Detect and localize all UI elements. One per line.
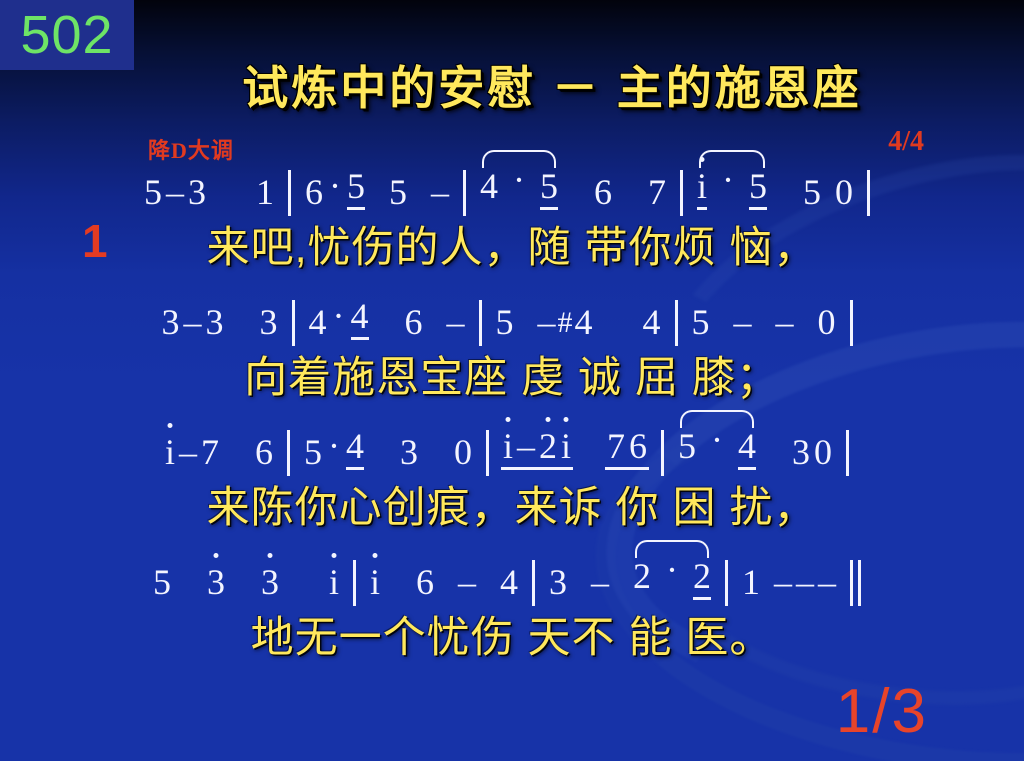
note: 5	[151, 564, 173, 600]
note: 3	[398, 434, 420, 470]
note: 3	[186, 174, 208, 210]
page-title: 试炼中的安慰 － 主的施恩座	[0, 52, 1024, 118]
note: 2	[537, 428, 559, 464]
dotted-rhythm-dot: ·	[325, 168, 345, 204]
barline	[680, 170, 683, 216]
note: 5	[538, 168, 560, 210]
sharp-accidental: #	[558, 308, 573, 338]
note: 5	[142, 174, 164, 210]
barline	[532, 560, 535, 606]
slur-arc: 2 · 2	[631, 558, 713, 600]
note: 1	[254, 174, 276, 210]
note: 4	[573, 304, 595, 340]
note: 3	[160, 304, 182, 340]
barline	[292, 300, 295, 346]
note: 0	[833, 174, 855, 210]
note: 6	[592, 174, 614, 210]
barline	[867, 170, 870, 216]
note: 5	[387, 174, 409, 210]
note: 3	[204, 304, 226, 340]
note: 4	[478, 168, 500, 204]
note: 5	[345, 168, 367, 210]
barline	[725, 560, 728, 606]
note-dash: –	[816, 564, 838, 600]
note-dash: –	[456, 564, 478, 600]
note: 2	[631, 558, 653, 594]
barline	[288, 170, 291, 216]
lyrics-line: 向着施恩宝座 虔 诚 屈 膝；	[0, 344, 1024, 412]
note-dash: –	[732, 304, 754, 340]
note: i	[163, 434, 177, 470]
note: 5	[747, 168, 769, 210]
note: 6	[627, 428, 649, 464]
barline	[463, 170, 466, 216]
note-dash: –	[772, 564, 794, 600]
note: 7	[199, 434, 221, 470]
barline	[675, 300, 678, 346]
notation-line: 5 – 3 1 6 · 5 5 – 4 ·	[0, 152, 1024, 214]
barline	[479, 300, 482, 346]
note-dash: –	[429, 174, 451, 210]
note: 7	[646, 174, 668, 210]
note: i	[368, 564, 382, 600]
page-indicator: 1/3	[836, 681, 928, 743]
note: 4	[307, 304, 329, 340]
barline	[661, 430, 664, 476]
barline	[486, 430, 489, 476]
note-dash: –	[794, 564, 816, 600]
note: 3	[790, 434, 812, 470]
score-stanza: 5 3 3 i i 6 – 4 3	[0, 542, 1024, 672]
note-dash: –	[445, 304, 467, 340]
note-dash: –	[536, 304, 558, 340]
note: 0	[812, 434, 834, 470]
note: 7	[605, 428, 627, 464]
lyrics-line: 来吧,忧伤的人，随 带你烦 恼，	[0, 214, 1024, 282]
final-barline	[850, 560, 861, 606]
note: 4	[344, 428, 366, 470]
note-dash: –	[515, 428, 537, 464]
dotted-rhythm-dot: ·	[324, 428, 344, 464]
note: 5	[690, 304, 712, 340]
beam-group: 76	[605, 428, 649, 470]
dotted-rhythm-dot: ·	[329, 298, 349, 334]
note: 1	[740, 564, 762, 600]
notation-line: 3 – 3 3 4 · 4 6 – 5 – #	[0, 282, 1024, 344]
note: 6	[303, 174, 325, 210]
note: i	[559, 428, 573, 464]
note: i	[501, 428, 515, 464]
lyrics-line: 来陈你心创痕，来诉 你 困 扰，	[0, 474, 1024, 542]
note-dash: –	[774, 304, 796, 340]
note: 3	[547, 564, 569, 600]
barline	[353, 560, 356, 606]
slur-arc: i · 5	[695, 168, 769, 210]
note: 5	[494, 304, 516, 340]
note-dash: –	[177, 434, 199, 470]
note-dash: –	[164, 174, 186, 210]
note: 6	[253, 434, 275, 470]
note-dash: –	[182, 304, 204, 340]
score-stanza: i – 7 6 5 · 4 3 0 i–2i	[0, 412, 1024, 542]
barline	[850, 300, 853, 346]
note: 5	[801, 174, 823, 210]
note: 4	[641, 304, 663, 340]
note-dash: –	[589, 564, 611, 600]
dotted-rhythm-dot: ·	[509, 162, 529, 198]
score-stanza: 3 – 3 3 4 · 4 6 – 5 – #	[0, 282, 1024, 412]
dotted-rhythm-dot: ·	[718, 162, 738, 198]
beam-group: i–2i	[501, 428, 573, 470]
notation-line: 5 3 3 i i 6 – 4 3	[0, 542, 1024, 604]
note: 3	[205, 564, 227, 600]
note: 3	[259, 564, 281, 600]
note: 6	[414, 564, 436, 600]
note: i	[695, 168, 709, 210]
note: 2	[691, 558, 713, 600]
note: 4	[349, 298, 371, 340]
hymn-slide: 502 试炼中的安慰 － 主的施恩座 降D大调 4/4 1 5 – 3 1 6 …	[0, 0, 1024, 761]
slur-arc: 5 · 4	[676, 428, 758, 470]
barline	[846, 430, 849, 476]
note: 0	[452, 434, 474, 470]
dotted-rhythm-dot: ·	[662, 552, 682, 588]
note: 6	[403, 304, 425, 340]
lyrics-line: 地无一个忧伤 天不 能 医。	[0, 604, 1024, 672]
score-stanza: 5 – 3 1 6 · 5 5 – 4 ·	[0, 152, 1024, 282]
note: 5	[676, 428, 698, 464]
note: i	[327, 564, 341, 600]
dotted-rhythm-dot: ·	[707, 422, 727, 458]
barline	[287, 430, 290, 476]
note: 3	[258, 304, 280, 340]
score-body: 5 – 3 1 6 · 5 5 – 4 ·	[0, 152, 1024, 672]
note: 4	[736, 428, 758, 470]
notation-line: i – 7 6 5 · 4 3 0 i–2i	[0, 412, 1024, 474]
note: 5	[302, 434, 324, 470]
note: 4	[498, 564, 520, 600]
note: 0	[816, 304, 838, 340]
slur-arc: 4 · 5	[478, 168, 560, 210]
